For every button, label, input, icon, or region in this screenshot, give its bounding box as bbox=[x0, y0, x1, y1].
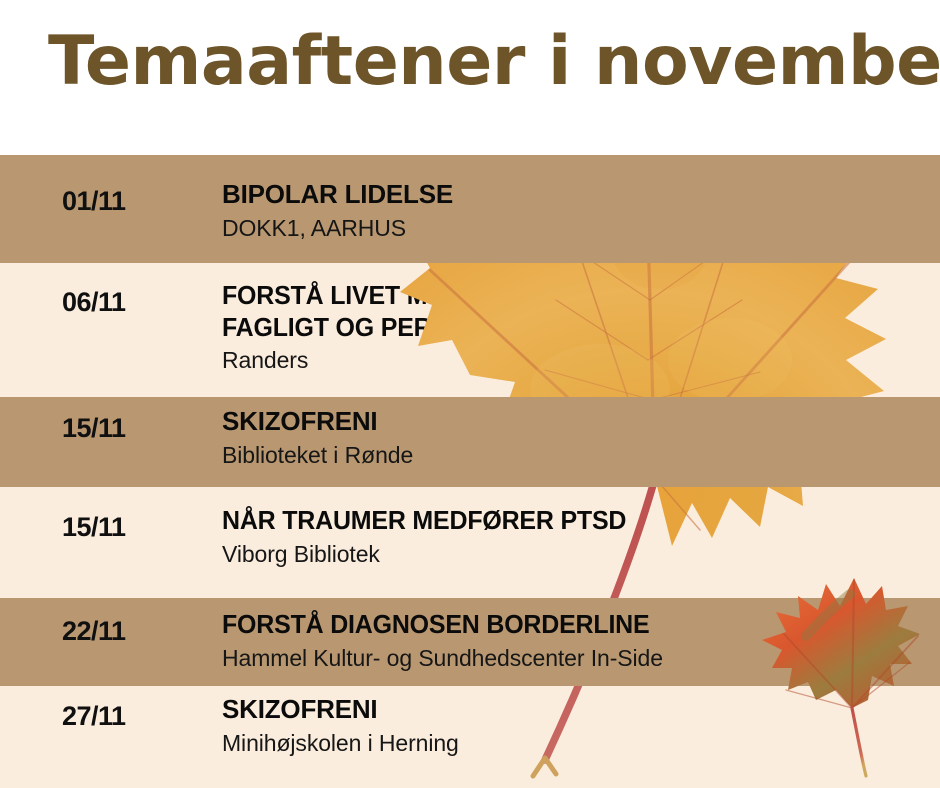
event-row: 22/11 FORSTÅ DIAGNOSEN BORDERLINE Hammel… bbox=[0, 598, 940, 686]
title-bar: Temaaftener i november bbox=[0, 0, 940, 155]
event-text-block: FORSTÅ LIVET MED AUTISME UD FRA ET FAGLI… bbox=[222, 280, 930, 375]
event-text-block: SKIZOFRENI Minihøjskolen i Herning bbox=[222, 694, 930, 757]
event-title: NÅR TRAUMER MEDFØRER PTSD bbox=[222, 505, 902, 537]
event-row: 27/11 SKIZOFRENI Minihøjskolen i Herning bbox=[0, 686, 940, 788]
event-venue: Viborg Bibliotek bbox=[222, 540, 930, 569]
event-text-block: NÅR TRAUMER MEDFØRER PTSD Viborg Bibliot… bbox=[222, 505, 930, 568]
event-row: 01/11 BIPOLAR LIDELSE DOKK1, AARHUS bbox=[0, 155, 940, 263]
event-date: 27/11 bbox=[62, 701, 126, 732]
event-date: 01/11 bbox=[62, 186, 126, 217]
event-venue: DOKK1, AARHUS bbox=[222, 214, 930, 243]
event-title-line-1: FORSTÅ LIVET MED AUTISME UD FRA ET bbox=[222, 280, 902, 312]
page-title: Temaaftener i november bbox=[48, 28, 940, 96]
event-title: BIPOLAR LIDELSE bbox=[222, 179, 930, 211]
event-text-block: SKIZOFRENI Biblioteket i Rønde bbox=[222, 406, 930, 469]
event-title: SKIZOFRENI bbox=[222, 694, 930, 726]
event-title: FORSTÅ DIAGNOSEN BORDERLINE bbox=[222, 609, 902, 641]
event-date: 15/11 bbox=[62, 413, 126, 444]
event-row: 06/11 FORSTÅ LIVET MED AUTISME UD FRA ET… bbox=[0, 263, 940, 397]
poster-canvas: 01/11 BIPOLAR LIDELSE DOKK1, AARHUS 06/1… bbox=[0, 0, 940, 788]
event-date: 22/11 bbox=[62, 616, 126, 647]
event-venue: Minihøjskolen i Herning bbox=[222, 729, 930, 758]
event-text-block: BIPOLAR LIDELSE DOKK1, AARHUS bbox=[222, 179, 930, 242]
event-venue: Hammel Kultur- og Sundhedscenter In-Side bbox=[222, 644, 930, 673]
event-venue: Randers bbox=[222, 346, 930, 375]
event-venue: Biblioteket i Rønde bbox=[222, 441, 930, 470]
event-title: SKIZOFRENI bbox=[222, 406, 930, 438]
event-text-block: FORSTÅ DIAGNOSEN BORDERLINE Hammel Kultu… bbox=[222, 609, 930, 672]
event-date: 06/11 bbox=[62, 287, 126, 318]
event-date: 15/11 bbox=[62, 512, 126, 543]
event-row: 15/11 NÅR TRAUMER MEDFØRER PTSD Viborg B… bbox=[0, 487, 940, 598]
event-row: 15/11 SKIZOFRENI Biblioteket i Rønde bbox=[0, 397, 940, 487]
event-title-line-2: FAGLIGT OG PERSONLIGT PERSPEKTIV bbox=[222, 312, 902, 344]
